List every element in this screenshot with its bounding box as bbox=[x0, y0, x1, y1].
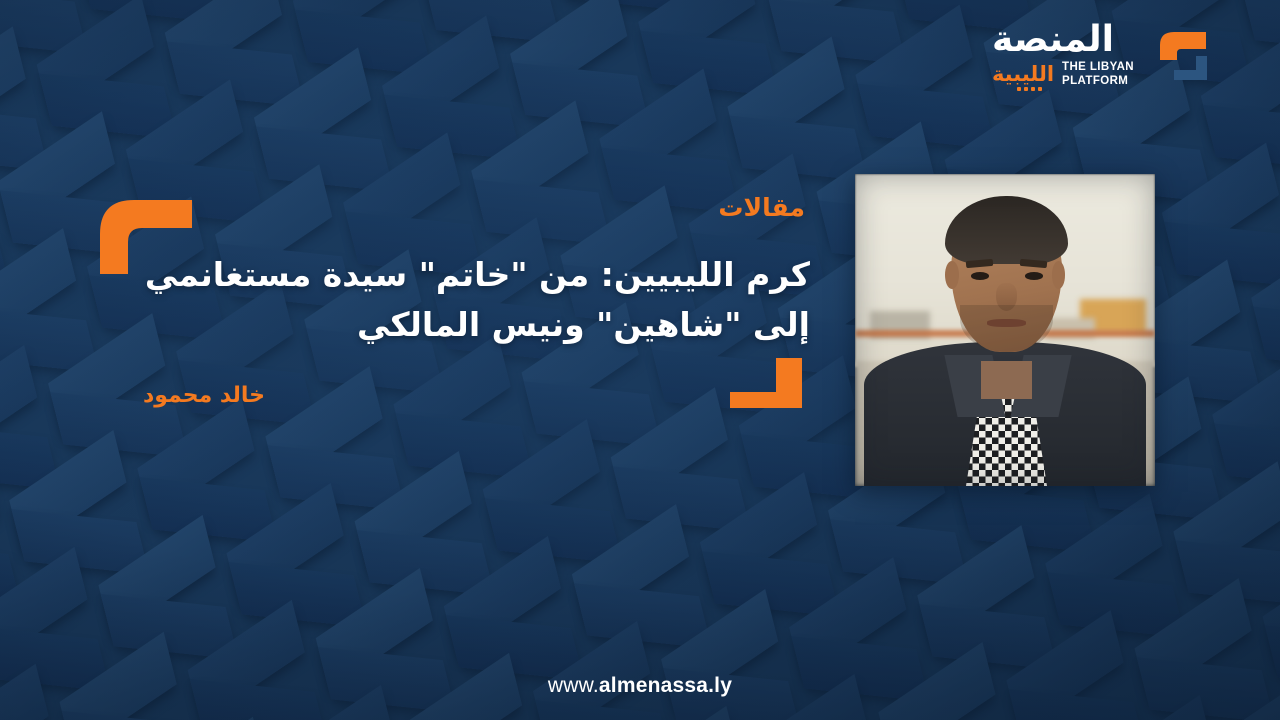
headline-line-1: كرم الليبيين: من "خاتم" سيدة مستغانمي bbox=[150, 250, 810, 300]
logo-english-text: THE LIBYAN PLATFORM bbox=[1062, 61, 1134, 87]
url-prefix: www. bbox=[548, 674, 599, 697]
logo-dots-decoration bbox=[1017, 87, 1042, 91]
article-card: المنصة THE LIBYAN PLATFORM الليبية bbox=[0, 0, 1280, 720]
category-label[interactable]: مقالات bbox=[718, 193, 805, 222]
site-logo[interactable]: المنصة THE LIBYAN PLATFORM الليبية bbox=[992, 18, 1218, 92]
logo-bracket-mark-icon bbox=[1144, 18, 1218, 92]
photo-focus-overlay bbox=[855, 174, 1155, 486]
logo-english-line1: THE LIBYAN bbox=[1062, 61, 1134, 74]
logo-arabic-sub: الليبية bbox=[992, 64, 1054, 85]
logo-wordmark: المنصة THE LIBYAN PLATFORM الليبية bbox=[992, 22, 1134, 87]
url-tld: .ly bbox=[708, 674, 732, 697]
portrait-image bbox=[855, 174, 1155, 486]
logo-arabic-main: المنصة bbox=[992, 22, 1114, 58]
author-name[interactable]: خالد محمود bbox=[143, 383, 265, 408]
url-domain: almenassa bbox=[599, 674, 708, 697]
quote-close-bracket-icon bbox=[726, 356, 806, 416]
headline-line-2: إلى "شاهين" ونيس المالكي bbox=[150, 300, 810, 350]
author-portrait-photo bbox=[855, 174, 1155, 486]
logo-english-line2: PLATFORM bbox=[1062, 75, 1134, 88]
headline: كرم الليبيين: من "خاتم" سيدة مستغانمي إل… bbox=[150, 250, 810, 350]
footer-website-url[interactable]: www.almenassa.ly bbox=[0, 674, 1280, 698]
